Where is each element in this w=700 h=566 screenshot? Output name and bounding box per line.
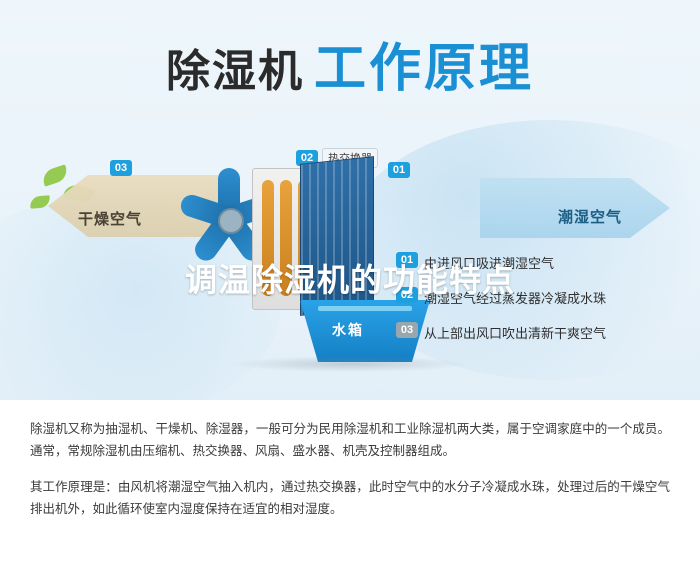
paragraph-2: 其工作原理是：由风机将潮湿空气抽入机内，通过热交换器，此时空气中的水分子冷凝成水… [30, 476, 670, 520]
leaf-icon [40, 164, 69, 186]
article-body: 除湿机又称为抽湿机、干燥机、除湿器，一般可分为民用除湿机和工业除湿机两大类，属于… [0, 400, 700, 566]
step-text-3: 从上部出风口吹出清新干爽空气 [424, 323, 606, 342]
fan-hub [218, 208, 244, 234]
base-shadow [230, 356, 470, 372]
watermark-text: 调温除湿机的功能特点 [0, 255, 700, 301]
humid-air-label: 潮湿空气 [558, 206, 622, 227]
water-surface [318, 306, 412, 311]
badge-01: 01 [388, 162, 410, 178]
illustration-title: 除湿机工作原理 [0, 26, 700, 101]
illustration-panel: 除湿机工作原理 干燥空气 03 02 热交换器 潮湿空气 01 [0, 0, 700, 400]
badge-step-03: 03 [396, 322, 418, 338]
water-tank-label: 水箱 [332, 320, 364, 340]
paragraph-1: 除湿机又称为抽湿机、干燥机、除湿器，一般可分为民用除湿机和工业除湿机两大类，属于… [30, 418, 670, 462]
page-root: 除湿机工作原理 干燥空气 03 02 热交换器 潮湿空气 01 [0, 0, 700, 566]
title-part-2: 工作原理 [314, 40, 534, 98]
badge-03-left: 03 [110, 160, 132, 176]
title-part-1: 除湿机 [166, 47, 304, 96]
dry-air-label: 干燥空气 [78, 208, 142, 229]
